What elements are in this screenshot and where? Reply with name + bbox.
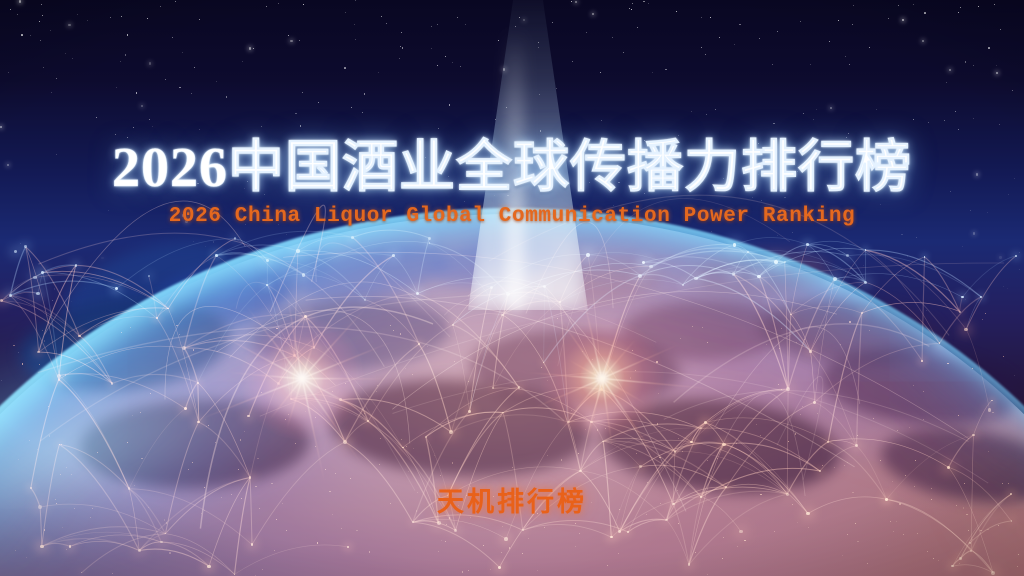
brand-footer: 天机排行榜	[0, 480, 1024, 519]
page-subtitle: 2026 China Liquor Global Communication P…	[0, 205, 1024, 228]
poster-canvas: 2026中国酒业全球传播力排行榜 2026 China Liquor Globa…	[0, 0, 1024, 576]
title-block: 2026中国酒业全球传播力排行榜 2026 China Liquor Globa…	[0, 140, 1024, 228]
page-title: 2026中国酒业全球传播力排行榜	[0, 140, 1024, 196]
